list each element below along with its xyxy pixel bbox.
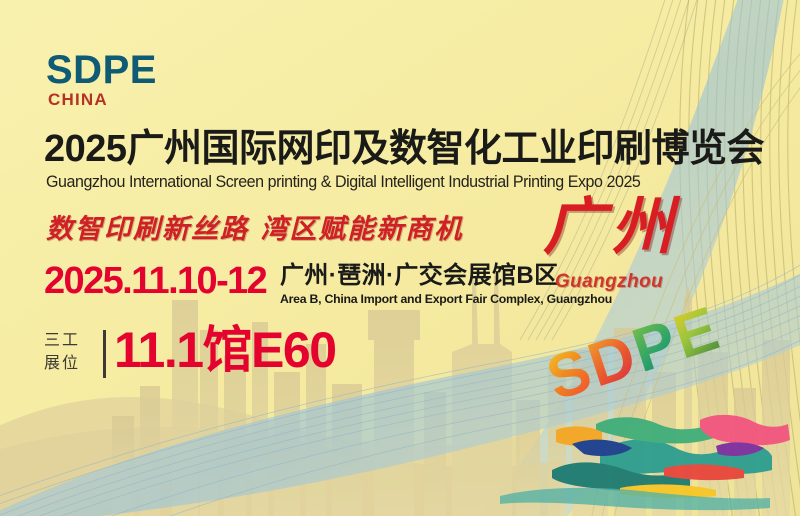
booth-number: 11.1馆E60 xyxy=(114,325,336,375)
booth-label-line2: 展位 xyxy=(44,353,80,376)
event-venue-english: Area B, China Import and Export Fair Com… xyxy=(280,293,612,305)
booth-divider xyxy=(103,330,106,378)
guangzhou-calligraphy-text: 广州 xyxy=(543,196,713,258)
booth-label: 三工 展位 xyxy=(44,330,80,375)
poster-canvas: SDPE CHINA 2025广州国际网印及数智化工业印刷博览会 Guangzh… xyxy=(0,0,800,516)
guangzhou-pinyin: Guangzhou xyxy=(555,272,663,291)
event-date: 2025.11.10-12 xyxy=(44,262,266,300)
booth-label-line1: 三工 xyxy=(44,330,80,353)
page-title-chinese: 2025广州国际网印及数智化工业印刷博览会 xyxy=(44,128,764,171)
slogan-text: 数智印刷新丝路 湾区赋能新商机 xyxy=(46,216,463,243)
event-venue-chinese: 广州·琶洲·广交会展馆B区 xyxy=(280,264,559,288)
sdpe-logo-country: CHINA xyxy=(48,91,108,108)
sdpe-logo-text: SDPE xyxy=(46,50,157,90)
poster-content: SDPE CHINA 2025广州国际网印及数智化工业印刷博览会 Guangzh… xyxy=(0,0,800,516)
